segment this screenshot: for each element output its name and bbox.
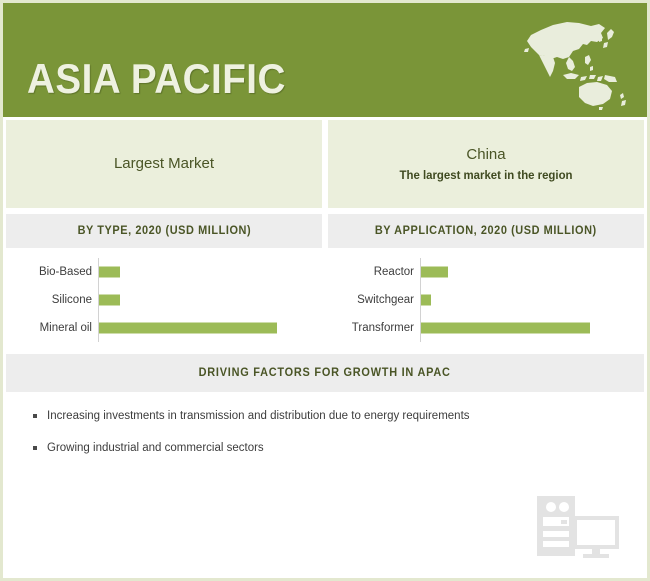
- bar-track: [420, 258, 644, 286]
- bar-chart-by-type: Bio-Based Silicone Mineral oil: [6, 248, 322, 348]
- bar-row: Silicone: [6, 286, 322, 314]
- bar-value: [421, 323, 590, 334]
- bar-category-label: Mineral oil: [6, 322, 98, 334]
- bar-value: [99, 323, 277, 334]
- bar-track: [98, 314, 322, 342]
- panel-right: China The largest market in the region B…: [328, 120, 644, 348]
- driving-factors-title: DRIVING FACTORS FOR GROWTH IN APAC: [199, 367, 451, 379]
- desktop-computer-icon: [535, 494, 621, 560]
- asia-pacific-infographic: ASIA PACIFIC: [0, 0, 650, 581]
- chart-title: BY TYPE, 2020 (USD MILLION): [77, 225, 251, 237]
- bar-category-label: Silicone: [6, 294, 98, 306]
- bar-row: Mineral oil: [6, 314, 322, 342]
- panels-row-callouts: Largest Market BY TYPE, 2020 (USD MILLIO…: [3, 117, 647, 348]
- callout-subtitle: The largest market in the region: [400, 168, 573, 182]
- chart-header-by-application: BY APPLICATION, 2020 (USD MILLION): [328, 214, 644, 248]
- bar-value: [421, 267, 448, 278]
- bar-row: Switchgear: [328, 286, 644, 314]
- bar-category-label: Switchgear: [328, 294, 420, 306]
- callout-title: China: [466, 146, 505, 165]
- asia-pacific-map-icon: [513, 11, 631, 111]
- bar-row: Reactor: [328, 258, 644, 286]
- bar-track: [98, 258, 322, 286]
- bar-value: [99, 267, 120, 278]
- bar-value: [421, 295, 431, 306]
- bar-chart-by-application: Reactor Switchgear Transformer: [328, 248, 644, 348]
- bar-track: [98, 286, 322, 314]
- bar-category-label: Reactor: [328, 266, 420, 278]
- panel-left: Largest Market BY TYPE, 2020 (USD MILLIO…: [6, 120, 322, 348]
- bar-row: Transformer: [328, 314, 644, 342]
- list-item: Growing industrial and commercial sector…: [33, 442, 647, 454]
- chart-title: BY APPLICATION, 2020 (USD MILLION): [375, 225, 597, 237]
- driving-factors-list: Increasing investments in transmission a…: [3, 392, 647, 454]
- bar-category-label: Transformer: [328, 322, 420, 334]
- page-title: ASIA PACIFIC: [27, 55, 286, 103]
- header-banner: ASIA PACIFIC: [3, 3, 647, 117]
- driving-factors-header: DRIVING FACTORS FOR GROWTH IN APAC: [6, 354, 644, 392]
- list-item: Increasing investments in transmission a…: [33, 410, 647, 422]
- bar-value: [99, 295, 120, 306]
- chart-header-by-type: BY TYPE, 2020 (USD MILLION): [6, 214, 322, 248]
- callout-largest-market: Largest Market: [6, 120, 322, 208]
- callout-china: China The largest market in the region: [328, 120, 644, 208]
- bar-track: [420, 286, 644, 314]
- bar-track: [420, 314, 644, 342]
- bar-row: Bio-Based: [6, 258, 322, 286]
- bar-category-label: Bio-Based: [6, 266, 98, 278]
- callout-title: Largest Market: [114, 155, 214, 174]
